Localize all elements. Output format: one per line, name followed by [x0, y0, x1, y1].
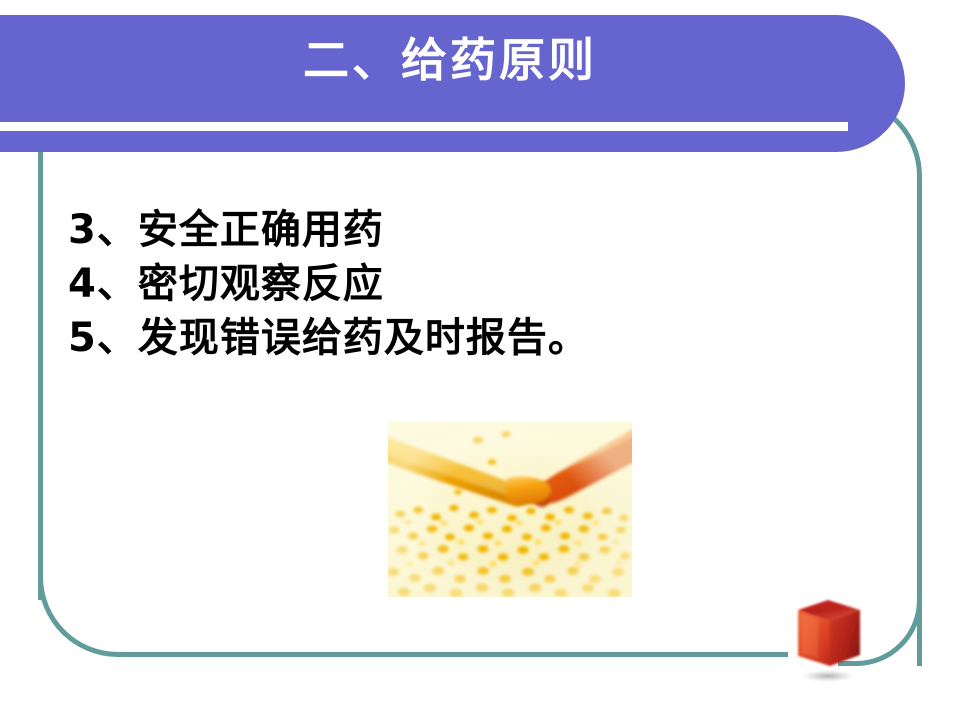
header-divider-line — [0, 122, 848, 131]
body-line-1: 3、安全正确用药 — [68, 203, 589, 257]
red-cube-decoration — [778, 592, 878, 692]
body-text-block: 3、安全正确用药 4、密切观察反应 5、发现错误给药及时报告。 — [68, 203, 589, 365]
frame-corner-bottom-left — [38, 575, 122, 657]
slide-canvas: 二、给药原则 3、安全正确用药 4、密切观察反应 5、发现错误给药及时报告。 — [0, 0, 960, 720]
capsule-photo-graphic — [388, 422, 632, 597]
slide-title: 二、给药原则 — [0, 30, 900, 90]
red-cube-icon — [778, 592, 878, 692]
body-line-2: 4、密切观察反应 — [68, 257, 589, 311]
capsule-photo — [388, 422, 632, 597]
body-line-3: 5、发现错误给药及时报告。 — [68, 311, 589, 365]
frame-border-right — [838, 96, 922, 666]
frame-border-left — [38, 148, 43, 600]
frame-border-bottom — [118, 652, 788, 657]
